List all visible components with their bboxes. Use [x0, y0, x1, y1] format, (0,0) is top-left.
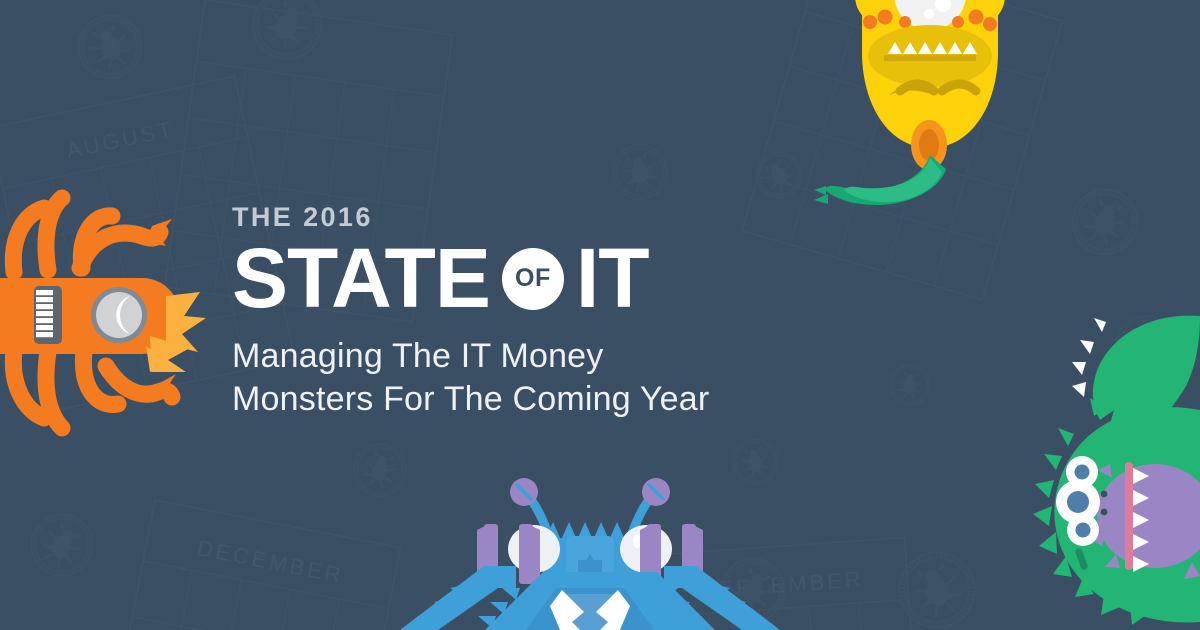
headline: STATE OF IT	[232, 239, 792, 319]
eyebrow-text: THE 2016	[232, 204, 792, 231]
yellow-monster	[814, 0, 1005, 205]
poster-canvas: AUGUST APRIL DECEMBER SEPTEMBER	[0, 0, 1200, 630]
headline-word-it: IT	[576, 239, 649, 319]
headline-word-state: STATE	[232, 239, 490, 319]
of-badge: OF	[502, 248, 564, 310]
subtitle: Managing The IT Money Monsters For The C…	[232, 335, 792, 422]
subtitle-line-1: Managing The IT Money	[232, 335, 792, 379]
green-monster	[1033, 316, 1200, 625]
orange-monster	[0, 198, 206, 428]
blue-monster	[400, 478, 780, 630]
subtitle-line-2: Monsters For The Coming Year	[232, 378, 792, 422]
title-block: THE 2016 STATE OF IT Managing The IT Mon…	[232, 204, 792, 422]
